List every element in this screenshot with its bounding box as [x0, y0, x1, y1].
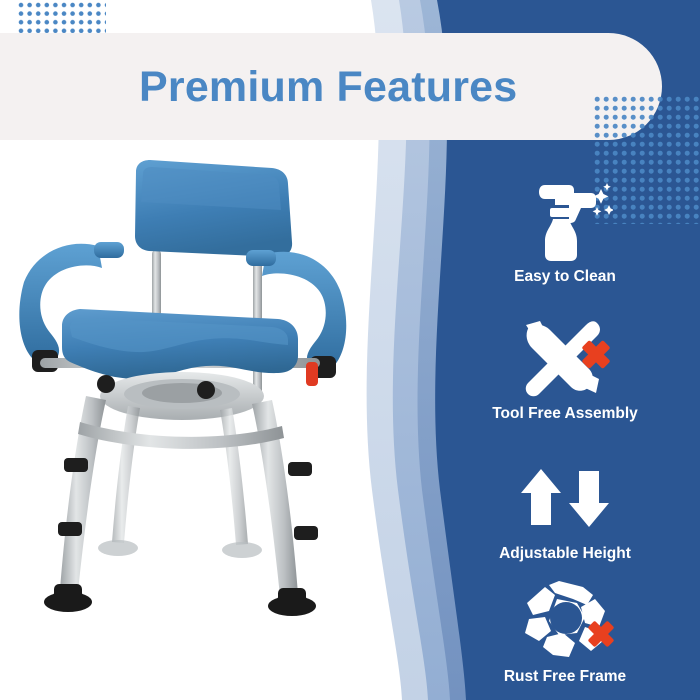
spray-bottle-icon — [440, 178, 690, 264]
rusted-nut-icon — [440, 578, 690, 664]
wrench-screwdriver-icon — [440, 315, 690, 401]
feature-list: Easy to Clean — [440, 170, 690, 690]
feature-label: Easy to Clean — [440, 267, 690, 287]
feature-label: Tool Free Assembly — [440, 404, 690, 424]
product-image-shower-chair — [10, 150, 360, 680]
feature-label: Rust Free Frame — [440, 667, 690, 687]
feature-item-tool-free-assembly: Tool Free Assembly — [440, 315, 690, 424]
up-down-arrows-icon — [440, 455, 690, 541]
feature-item-adjustable-height: Adjustable Height — [440, 455, 690, 564]
arrow-up-icon — [521, 469, 561, 525]
feature-item-easy-to-clean: Easy to Clean — [440, 178, 690, 287]
infographic-canvas: Premium Features — [0, 0, 700, 700]
page-title: Premium Features — [139, 60, 609, 115]
arrow-down-icon — [569, 471, 609, 527]
feature-item-rust-free-frame: Rust Free Frame — [440, 578, 690, 687]
feature-label: Adjustable Height — [440, 544, 690, 564]
